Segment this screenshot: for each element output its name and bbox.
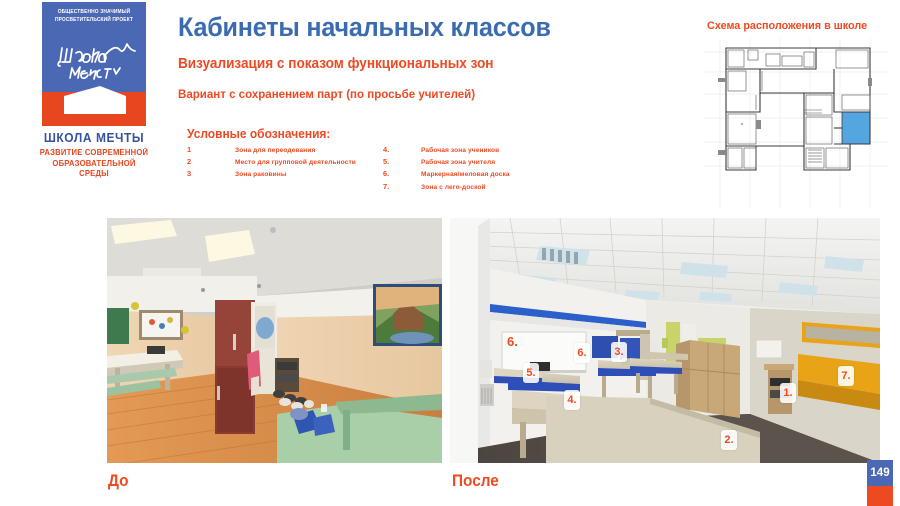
legend-item-label: Маркерная/меловая доска xyxy=(421,171,510,178)
caption-before: До xyxy=(108,472,129,491)
page-variant-note: Вариант с сохранением парт (по просьбе у… xyxy=(178,87,475,101)
legend-item: 3 Зона раковины xyxy=(187,169,387,181)
legend-item-label: Рабочая зона учеников xyxy=(421,147,499,154)
slide-root: ОБЩЕСТВЕННО ЗНАЧИМЫЙ ПРОСВЕТИТЕЛЬСКИЙ ПР… xyxy=(0,0,900,506)
floorplan-diagram xyxy=(704,38,888,208)
page-title: Кабинеты начальных классов xyxy=(178,12,551,43)
logo-house-icon xyxy=(42,74,146,114)
brand-logo: ОБЩЕСТВЕННО ЗНАЧИМЫЙ ПРОСВЕТИТЕЛЬСКИЙ ПР… xyxy=(36,2,152,188)
page-number: 149 xyxy=(867,460,893,486)
zone-marker-7: 7. xyxy=(838,366,854,386)
logo-name: ШКОЛА МЕЧТЫ xyxy=(39,131,149,145)
legend-item: 5. Рабочая зона учителя xyxy=(383,157,563,169)
legend: Условные обозначения: 1 Зона для переоде… xyxy=(187,127,547,205)
page-badge-accent xyxy=(867,486,893,506)
legend-item-number: 7. xyxy=(383,182,421,191)
legend-title: Условные обозначения: xyxy=(187,127,529,141)
legend-item-number: 4. xyxy=(383,145,421,154)
legend-item-label: Место для групповой деятельности xyxy=(235,159,356,166)
logo-tagline: ОБЩЕСТВЕННО ЗНАЧИМЫЙ ПРОСВЕТИТЕЛЬСКИЙ ПР… xyxy=(46,9,142,24)
zone-marker-2: 2. xyxy=(721,430,737,450)
legend-column-right: 4. Рабочая зона учеников 5. Рабочая зона… xyxy=(383,145,563,194)
zone-marker-4: 4. xyxy=(564,390,580,410)
legend-item: 7. Зона с лего-доской xyxy=(383,182,563,194)
legend-item-label: Зона с лего-доской xyxy=(421,184,486,191)
logo-sub-line2: ОБРАЗОВАТЕЛЬНОЙ СРЕДЫ xyxy=(39,159,149,180)
legend-column-left: 1 Зона для переодевания 2 Место для груп… xyxy=(187,145,387,182)
logo-subtitle: РАЗВИТИЕ СОВРЕМЕННОЙ ОБРАЗОВАТЕЛЬНОЙ СРЕ… xyxy=(39,148,149,180)
logo-sub-line1: РАЗВИТИЕ СОВРЕМЕННОЙ xyxy=(39,148,149,159)
logo-tagline-line1: ОБЩЕСТВЕННО ЗНАЧИМЫЙ xyxy=(46,9,142,17)
legend-item-label: Зона раковины xyxy=(235,171,287,178)
floorplan-title: Схема расположения в школе xyxy=(707,20,867,32)
legend-item: 6. Маркерная/меловая доска xyxy=(383,169,563,181)
legend-item-label: Рабочая зона учителя xyxy=(421,159,495,166)
legend-item-label: Зона для переодевания xyxy=(235,147,315,154)
photo-before xyxy=(107,218,442,463)
zone-marker-6: 6. xyxy=(574,343,590,363)
legend-item-number: 3 xyxy=(187,169,235,178)
legend-item-number: 6. xyxy=(383,169,421,178)
logo-panel: ОБЩЕСТВЕННО ЗНАЧИМЫЙ ПРОСВЕТИТЕЛЬСКИЙ ПР… xyxy=(42,2,146,126)
legend-item-number: 5. xyxy=(383,157,421,166)
caption-after: После xyxy=(452,472,499,491)
page-subtitle: Визуализация с показом функциональных зо… xyxy=(178,56,494,72)
legend-item: 1 Зона для переодевания xyxy=(187,145,387,157)
zone-marker-5: 5. xyxy=(523,363,539,383)
zone-marker-3: 3. xyxy=(611,342,627,362)
legend-item-number: 2 xyxy=(187,157,235,166)
logo-tagline-line2: ПРОСВЕТИТЕЛЬСКИЙ ПРОЕКТ xyxy=(46,17,142,25)
zone-marker-1: 1. xyxy=(780,383,796,403)
photo-after: 6. 5. 6. 3. 4. 2. 1. 7. xyxy=(450,218,880,463)
legend-item: 4. Рабочая зона учеников xyxy=(383,145,563,157)
zone-marker-6-left: 6. xyxy=(507,334,518,349)
page-number-badge: 149 xyxy=(867,460,893,506)
legend-item-number: 1 xyxy=(187,145,235,154)
legend-item: 2 Место для групповой деятельности xyxy=(187,157,387,169)
